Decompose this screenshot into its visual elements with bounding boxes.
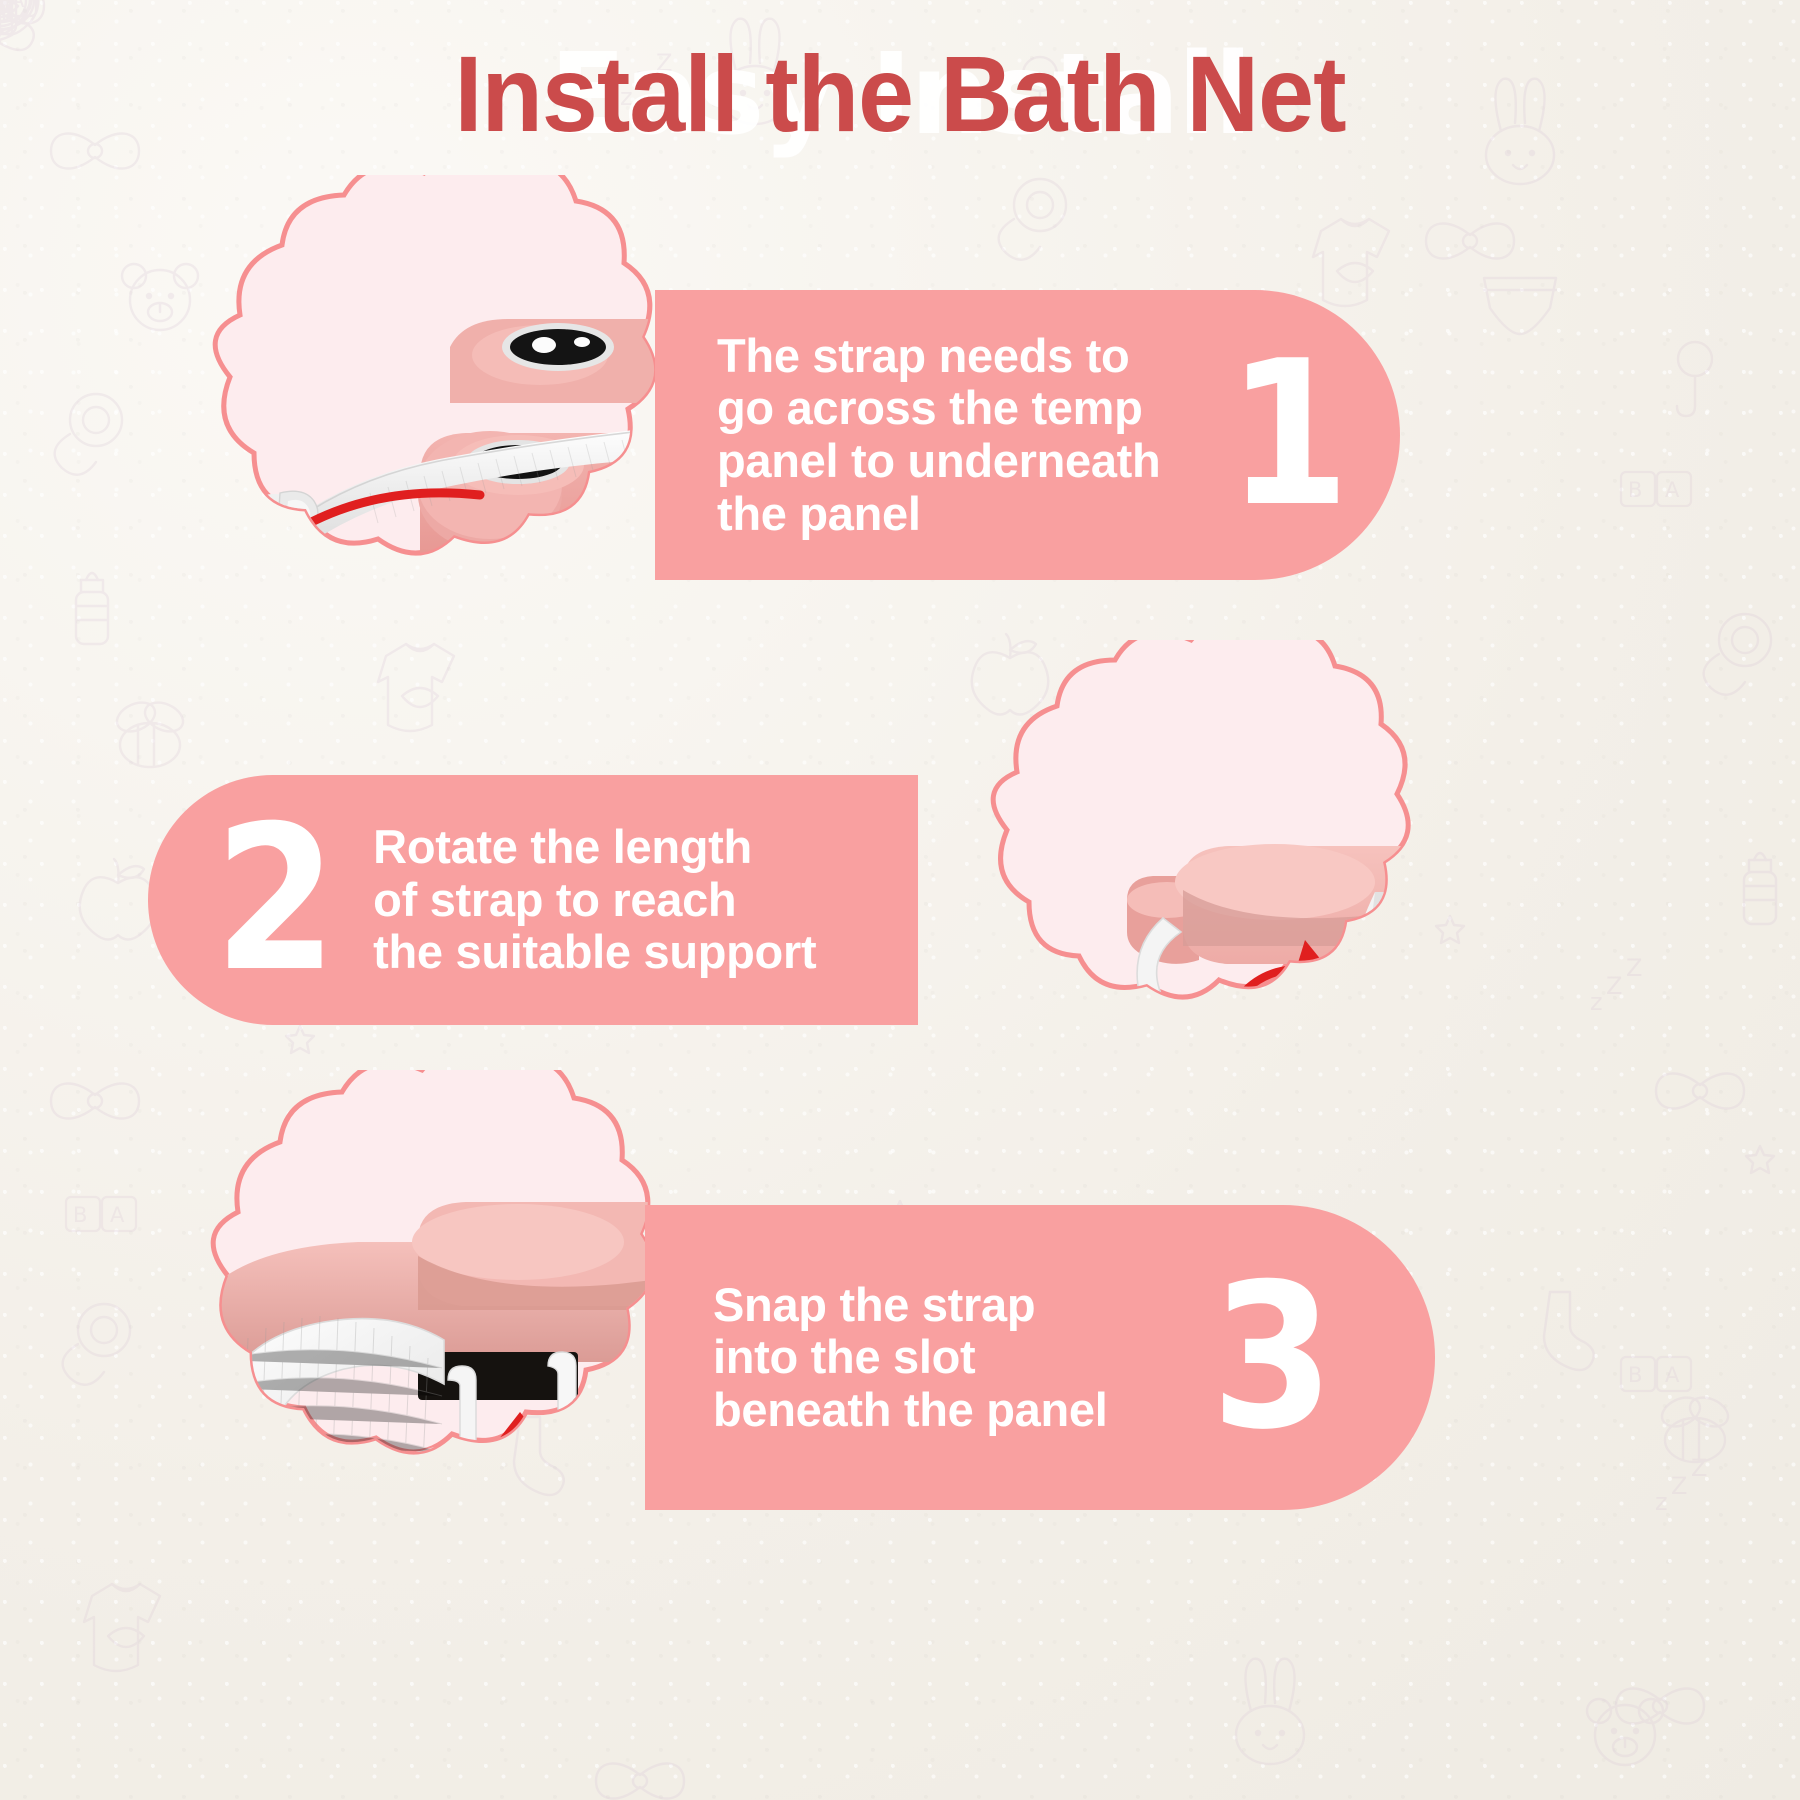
step-1-text-pill: The strap needs to go across the temp pa… [655,290,1400,580]
step-3-number: 3 [1211,1276,1333,1440]
step-3-text: Snap the strap into the slot beneath the… [713,1279,1203,1437]
step-3-text-pill: Snap the strap into the slot beneath the… [645,1205,1435,1510]
step-2-text: Rotate the length of strap to reach the … [373,821,816,979]
step-1-text: The strap needs to go across the temp pa… [717,330,1217,541]
step-2-number: 2 [214,818,336,982]
step-2-text-pill: 2 Rotate the length of strap to reach th… [148,775,918,1025]
step-1-illustration-cloud [120,175,690,670]
page-title: Install the Bath Net [454,40,1345,148]
step-3-illustration-cloud [118,1070,688,1570]
step-1-number: 1 [1227,353,1349,517]
step-2-illustration-cloud [905,640,1450,1100]
title-area: Easy Install Install the Bath Net [0,24,1800,164]
